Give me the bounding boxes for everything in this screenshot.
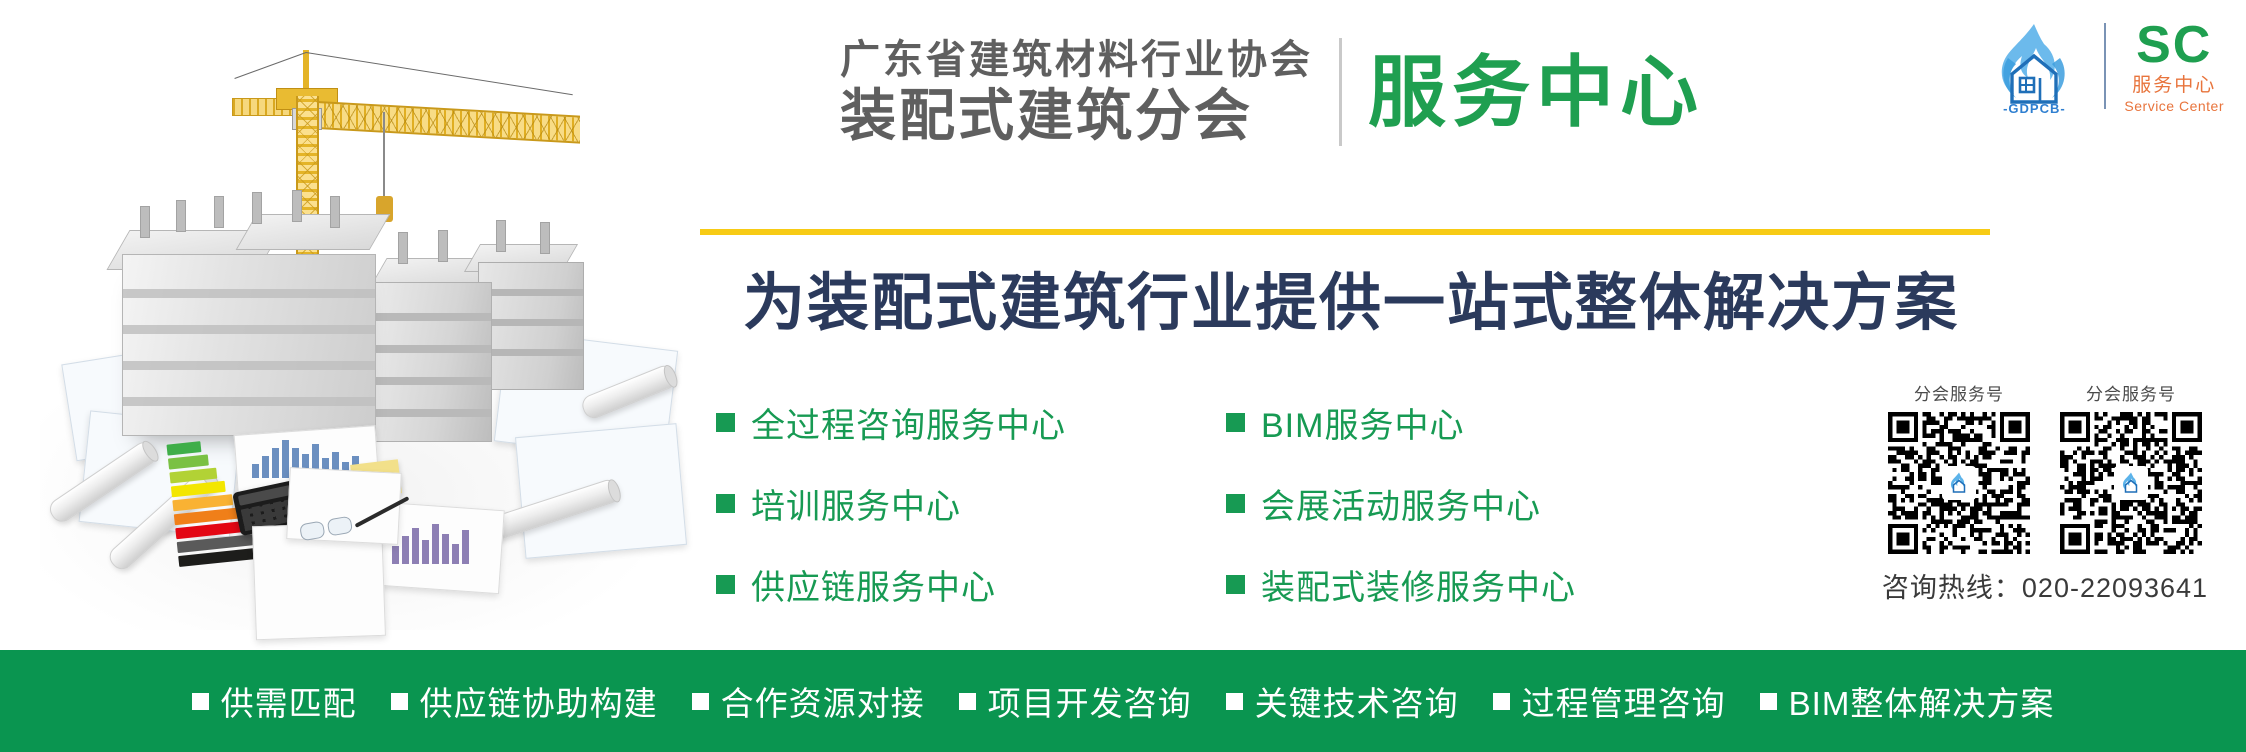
gdpcb-emblem-icon: -GDPCB- — [1982, 14, 2086, 118]
logo-divider — [2104, 23, 2106, 109]
bullet-square-icon — [1226, 575, 1245, 594]
service-item-label: 培训服务中心 — [751, 479, 961, 528]
rebar-column — [330, 196, 340, 228]
service-item[interactable]: 供应链服务中心 — [716, 560, 1066, 609]
qr-cell[interactable]: 分会服务号 — [2060, 380, 2202, 554]
qr-row: 分会服务号 分会服务号 — [1860, 380, 2230, 554]
rebar-column — [252, 192, 262, 224]
rebar-column — [214, 196, 224, 228]
bar-chart-purple — [392, 520, 469, 564]
rebar-column — [292, 190, 302, 222]
service-item-label: 装配式装修服务中心 — [1261, 560, 1576, 609]
footer-item-label: BIM整体解决方案 — [1789, 677, 2055, 725]
rebar-column — [140, 206, 150, 238]
qr-caption: 分会服务号 — [1914, 380, 2004, 405]
service-center-list: 全过程咨询服务中心 培训服务中心 供应链服务中心 BIM服务中心 会展活动服务中… — [716, 398, 1576, 609]
building-block-far — [478, 262, 584, 390]
service-column-left: 全过程咨询服务中心 培训服务中心 供应链服务中心 — [716, 398, 1066, 609]
building-block-main — [122, 254, 376, 436]
footer-item[interactable]: 供需匹配 — [192, 677, 357, 725]
crane-hoist-line — [383, 112, 385, 198]
logo-lockup: -GDPCB- SC 服务中心 Service Center — [1982, 14, 2224, 118]
crane-wire-front — [306, 52, 573, 95]
service-item[interactable]: 装配式装修服务中心 — [1226, 560, 1576, 609]
association-line-1: 广东省建筑材料行业协会 — [840, 40, 1313, 80]
bullet-square-icon — [1226, 693, 1243, 710]
bullet-square-icon — [1226, 494, 1245, 513]
gold-divider-rule — [700, 229, 1990, 235]
service-item[interactable]: 会展活动服务中心 — [1226, 479, 1576, 528]
footer-service-strip: 供需匹配 供应链协助构建 合作资源对接 项目开发咨询 关键技术咨询 过程管理咨询… — [0, 650, 2246, 752]
sc-english-label: Service Center — [2124, 99, 2224, 113]
bullet-square-icon — [716, 575, 735, 594]
service-item[interactable]: 全过程咨询服务中心 — [716, 398, 1066, 447]
service-item[interactable]: BIM服务中心 — [1226, 398, 1576, 447]
rebar-column — [540, 222, 550, 254]
footer-item[interactable]: 合作资源对接 — [692, 677, 925, 725]
qr-cell[interactable]: 分会服务号 — [1888, 380, 2030, 554]
qr-center-logo-icon — [1942, 466, 1976, 500]
bullet-square-icon — [1760, 693, 1777, 710]
footer-item-label: 合作资源对接 — [721, 677, 925, 725]
bullet-square-icon — [716, 413, 735, 432]
bullet-square-icon — [1226, 413, 1245, 432]
association-name: 广东省建筑材料行业协会 装配式建筑分会 — [840, 40, 1313, 144]
service-column-right: BIM服务中心 会展活动服务中心 装配式装修服务中心 — [1226, 398, 1576, 609]
rebar-column — [398, 232, 408, 264]
title-divider — [1339, 38, 1342, 146]
qr-code-image[interactable] — [2060, 412, 2202, 554]
construction-illustration — [0, 0, 700, 650]
rebar-column — [176, 200, 186, 232]
bullet-square-icon — [959, 693, 976, 710]
footer-item-label: 供应链协助构建 — [420, 677, 658, 725]
service-item-label: 全过程咨询服务中心 — [751, 398, 1066, 447]
qr-caption: 分会服务号 — [2086, 380, 2176, 405]
service-item-label: 供应链服务中心 — [751, 560, 996, 609]
bullet-square-icon — [1493, 693, 1510, 710]
footer-item[interactable]: 项目开发咨询 — [959, 677, 1192, 725]
footer-item[interactable]: BIM整体解决方案 — [1760, 677, 2055, 725]
footer-item-label: 关键技术咨询 — [1255, 677, 1459, 725]
building-block-right — [374, 282, 492, 442]
qr-code-image[interactable] — [1888, 412, 2030, 554]
tagline: 为装配式建筑行业提供一站式整体解决方案 — [706, 252, 1996, 342]
hotline-text: 咨询热线：020-22093641 — [1860, 566, 2230, 605]
rebar-column — [496, 220, 506, 252]
service-item[interactable]: 培训服务中心 — [716, 479, 1066, 528]
footer-item[interactable]: 供应链协助构建 — [391, 677, 658, 725]
qr-contact-block: 分会服务号 分会服务号 — [1860, 380, 2230, 605]
footer-item-label: 供需匹配 — [221, 677, 357, 725]
footer-item-label: 项目开发咨询 — [988, 677, 1192, 725]
header-title-row: 广东省建筑材料行业协会 装配式建筑分会 服务中心 — [840, 38, 1704, 146]
footer-item-label: 过程管理咨询 — [1522, 677, 1726, 725]
service-item-label: 会展活动服务中心 — [1261, 479, 1541, 528]
sc-logo: SC 服务中心 Service Center — [2124, 19, 2224, 113]
bullet-square-icon — [391, 693, 408, 710]
promo-banner: -GDPCB- SC 服务中心 Service Center 广东省建筑材料行业… — [0, 0, 2246, 752]
service-center-title: 服务中心 — [1368, 53, 1704, 131]
sc-abbrev: SC — [2136, 19, 2212, 71]
association-line-2: 装配式建筑分会 — [840, 88, 1313, 144]
sc-chinese-label: 服务中心 — [2132, 76, 2216, 95]
qr-center-logo-icon — [2114, 466, 2148, 500]
bullet-square-icon — [192, 693, 209, 710]
bullet-square-icon — [716, 494, 735, 513]
crane-jib — [300, 100, 580, 144]
crane-wire-back — [234, 52, 306, 79]
footer-item[interactable]: 过程管理咨询 — [1493, 677, 1726, 725]
service-item-label: BIM服务中心 — [1261, 398, 1464, 447]
footer-item[interactable]: 关键技术咨询 — [1226, 677, 1459, 725]
gdpcb-wordmark: -GDPCB- — [1982, 101, 2086, 116]
bullet-square-icon — [692, 693, 709, 710]
rebar-column — [438, 230, 448, 262]
